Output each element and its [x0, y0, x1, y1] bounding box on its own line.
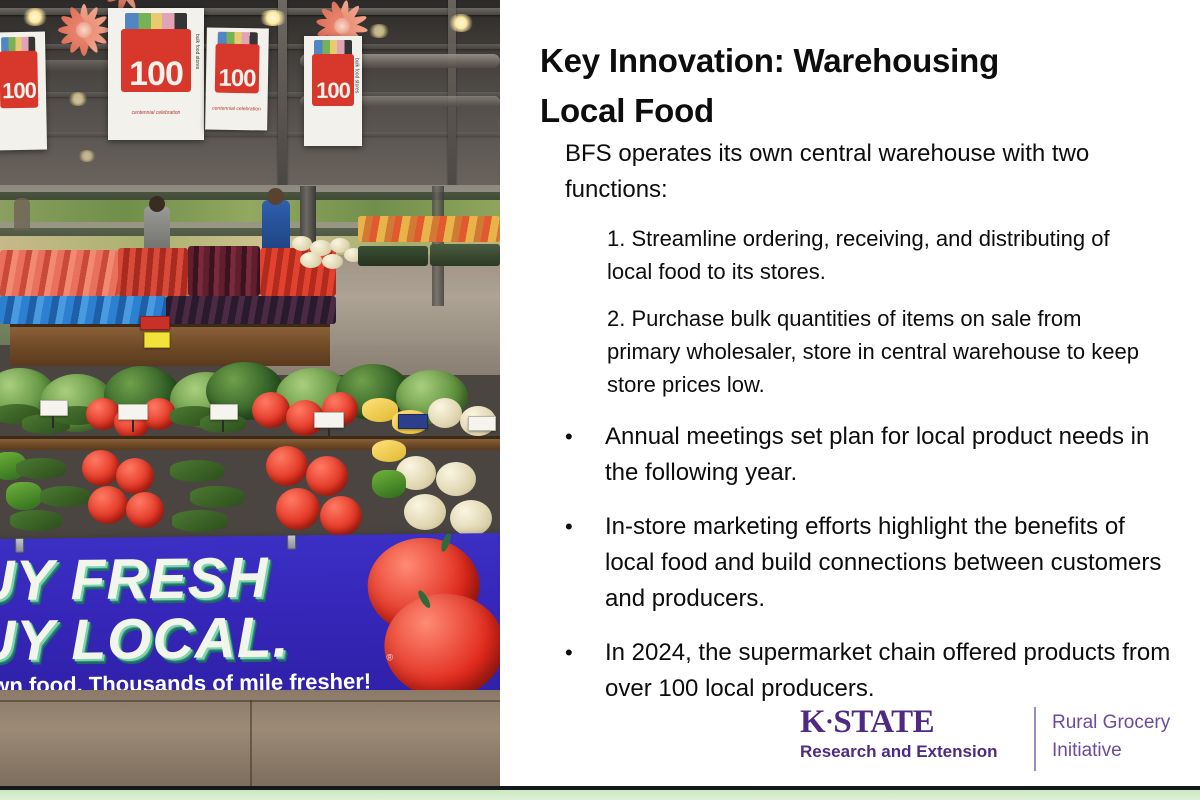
shopper-figure — [14, 198, 30, 230]
slide-content-panel: Key Innovation: Warehousing Local Food B… — [500, 0, 1200, 786]
green-pepper — [6, 482, 42, 510]
banner-headline-1: UY FRESH — [0, 546, 394, 611]
kstate-word-state: STATE — [833, 704, 934, 740]
produce-shelf-wood — [0, 436, 500, 450]
bullet-item-3: • In 2024, the supermarket chain offered… — [500, 635, 1200, 707]
price-tag — [140, 316, 170, 330]
price-tag — [144, 332, 170, 348]
ceiling-banner-sub: centennial celebration — [108, 110, 204, 116]
produce-bin-grapes — [166, 296, 336, 324]
presentation-slide: 100 100 centennial celebration bulk food… — [0, 0, 1200, 800]
price-tag — [40, 400, 68, 416]
ceiling-banner: 100 centennial celebration — [205, 27, 269, 130]
produce-display-case — [10, 324, 330, 366]
bullet-item-2: • In-store marketing efforts highlight t… — [500, 509, 1200, 617]
produce-bin-berries — [188, 246, 260, 296]
bullet-text: In-store marketing efforts highlight the… — [605, 509, 1178, 617]
green-pepper — [372, 470, 406, 498]
ceiling-banner-side: bulk food stores — [194, 34, 200, 69]
buy-fresh-buy-local-banner: UY FRESH UY LOCAL. ® own food. Thousands… — [0, 533, 500, 699]
produce-bin-citrus — [358, 216, 500, 242]
slide-body: BFS operates its own central warehouse w… — [500, 136, 1200, 707]
ceiling-banner-side: bulk food stores — [354, 58, 360, 93]
price-tag — [314, 412, 344, 428]
ceiling-light — [448, 14, 474, 32]
produce-shelf-edge — [430, 244, 500, 266]
cucumber — [190, 486, 244, 508]
pattypan-squash — [436, 462, 476, 496]
bullet-marker-icon: • — [565, 419, 605, 491]
ceiling-beam — [0, 132, 500, 136]
bullet-marker-icon: • — [565, 635, 605, 707]
cucumber — [40, 486, 90, 507]
page-title-line-2: Local Food — [540, 86, 1140, 136]
kstate-subline: Research and Extension — [800, 741, 1022, 763]
price-tag — [210, 404, 238, 420]
kstate-wordmark: K·STATE — [800, 705, 1022, 739]
bullet-marker-icon: • — [565, 509, 605, 617]
pattypan-squash — [428, 398, 462, 428]
shopper-figure — [262, 200, 290, 250]
ceiling-banner: 100 — [0, 32, 47, 151]
ceiling-light — [78, 150, 96, 162]
price-tag — [468, 416, 496, 431]
price-tag-stem — [52, 416, 54, 428]
floor-seam — [250, 700, 252, 786]
tomato — [88, 486, 128, 524]
bullet-text: In 2024, the supermarket chain offered p… — [605, 635, 1178, 707]
ceiling-support — [278, 0, 287, 190]
tomato — [116, 458, 154, 494]
produce-onion — [292, 236, 312, 251]
cucumber — [16, 458, 66, 479]
price-tag-stem — [132, 420, 134, 432]
banner-registered-mark: ® — [386, 652, 393, 662]
page-title-line-1: Key Innovation: Warehousing — [540, 36, 1140, 86]
ceiling-light — [258, 10, 288, 26]
ceiling-banner-number: 100 — [0, 32, 47, 151]
price-tag — [398, 414, 428, 429]
numbered-item-2: 2. Purchase bulk quantities of items on … — [500, 302, 1200, 401]
tomato — [252, 392, 290, 428]
tomato — [82, 450, 120, 486]
pattypan-squash — [450, 500, 492, 536]
logo-divider — [1034, 707, 1036, 771]
bullet-item-1: • Annual meetings set plan for local pro… — [500, 419, 1200, 491]
kstate-wordmark-block: K·STATE Research and Extension — [800, 705, 1022, 763]
pattypan-squash — [404, 494, 446, 530]
intro-paragraph: BFS operates its own central warehouse w… — [500, 136, 1200, 208]
bottom-green-bar — [0, 790, 1200, 800]
produce-onion — [322, 254, 343, 269]
grocery-store-photo: 100 100 centennial celebration bulk food… — [0, 0, 500, 786]
kstate-logo: K·STATE Research and Extension Rural Gro… — [800, 705, 1190, 777]
ceiling-banner: 100 bulk food stores — [304, 36, 362, 146]
produce-onion — [300, 252, 322, 268]
program-name-line-2: Initiative — [1052, 737, 1170, 765]
kstate-letter-k: K — [800, 704, 825, 740]
ceiling-banner-sub: centennial celebration — [205, 105, 267, 112]
program-name: Rural Grocery Initiative — [1052, 709, 1170, 765]
price-tag — [118, 404, 148, 420]
ceiling-banner: 100 centennial celebration bulk food sto… — [108, 8, 204, 140]
ceiling-banner-number: 100 — [108, 8, 204, 140]
shopper-head — [267, 188, 284, 205]
shopper-head — [149, 196, 165, 212]
tomato — [320, 496, 362, 536]
bullet-text: Annual meetings set plan for local produ… — [605, 419, 1178, 491]
tomato — [126, 492, 164, 528]
tomato — [306, 456, 348, 496]
produce-bin-apples — [0, 250, 118, 296]
ceiling-banner-number: 100 — [205, 27, 269, 130]
numbered-item-1: 1. Streamline ordering, receiving, and d… — [500, 222, 1200, 288]
yellow-squash — [372, 440, 406, 462]
cucumber — [10, 510, 62, 531]
program-name-line-1: Rural Grocery — [1052, 709, 1170, 737]
cucumber — [172, 510, 228, 532]
page-title: Key Innovation: Warehousing Local Food — [540, 36, 1140, 136]
produce-shelf-edge — [358, 246, 428, 266]
tomato — [266, 446, 308, 486]
cucumber — [170, 460, 224, 482]
banner-headline-2: UY LOCAL. — [0, 606, 395, 671]
produce-bin-apples — [118, 248, 188, 296]
tomato — [276, 488, 320, 530]
ceiling-light — [68, 92, 88, 106]
shopper-figure — [144, 206, 170, 254]
price-tag-stem — [222, 420, 224, 432]
